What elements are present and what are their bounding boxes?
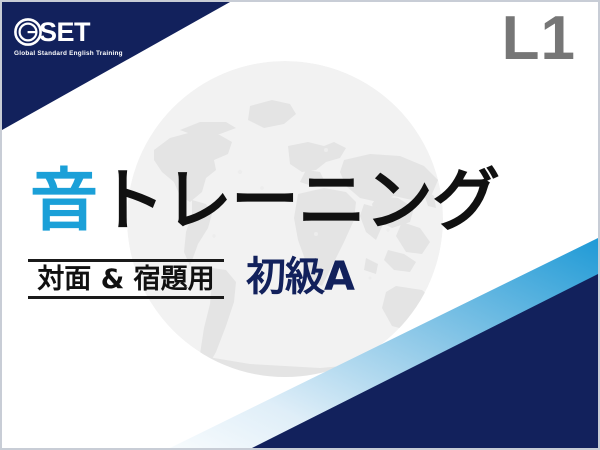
brand-logo-row: SET	[14, 17, 129, 47]
subtitle-row: 対面 & 宿題用 初級A	[28, 257, 354, 299]
cover-canvas: SET Global Standard English Training L1 …	[2, 2, 598, 448]
brand-tagline: Global Standard English Training	[14, 50, 129, 57]
training-material-cover: SET Global Standard English Training L1 …	[0, 0, 600, 450]
circle-g-icon	[14, 18, 42, 46]
page-title: 音トレーニング	[30, 168, 499, 236]
page-title-rest: トレーニング	[97, 162, 499, 241]
brand-name: SET	[39, 19, 90, 46]
usage-label: 対面 & 宿題用	[30, 266, 222, 294]
course-level-label: 初級A	[246, 257, 354, 299]
usage-badge: 対面 & 宿題用	[28, 259, 224, 299]
level-badge: L1	[502, 8, 576, 70]
brand-logo: SET Global Standard English Training	[14, 17, 129, 57]
page-title-accent: 音	[30, 162, 97, 241]
